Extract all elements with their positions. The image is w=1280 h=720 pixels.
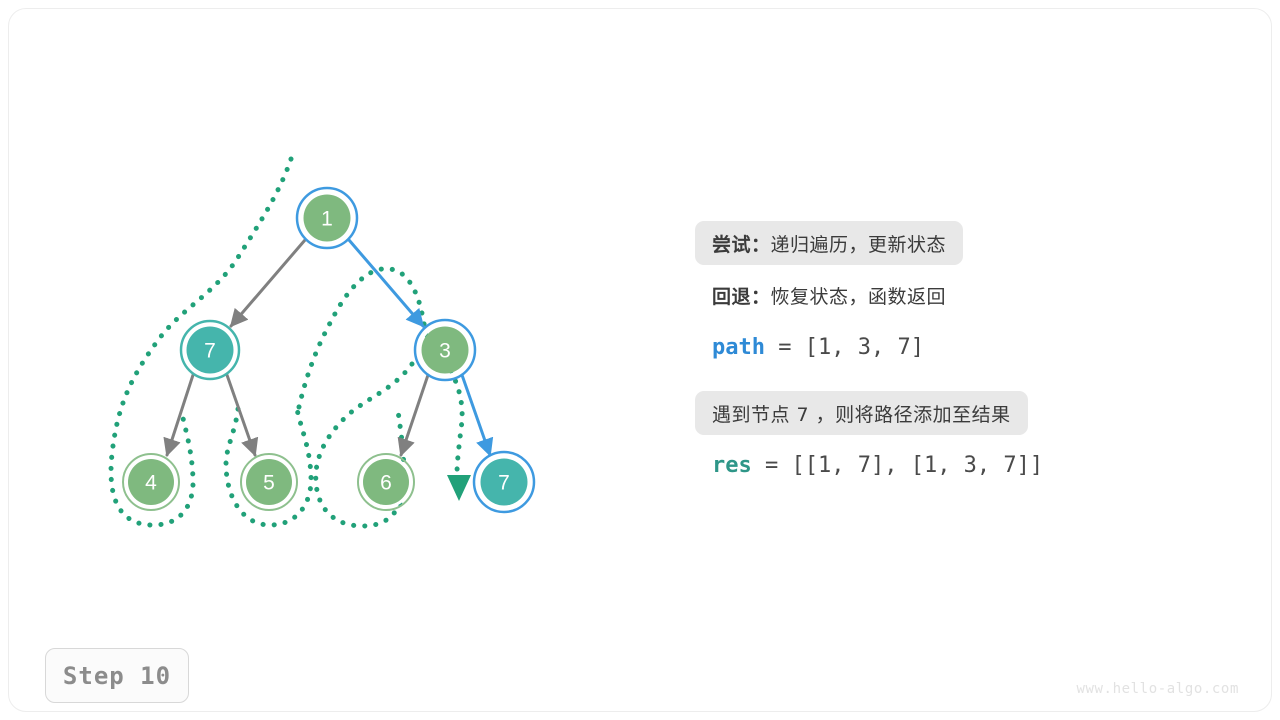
path-value: [1, 3, 7]: [805, 335, 924, 360]
tree-node-4[interactable]: 4: [123, 454, 179, 510]
tree-node-6-label: 6: [380, 472, 392, 495]
tree-node-7-right-label: 7: [498, 472, 510, 495]
try-text: 递归遍历，更新状态: [771, 230, 947, 257]
watermark: www.hello-algo.com: [1076, 681, 1239, 697]
info-panel: 尝试： 递归遍历，更新状态 回退： 恢复状态，函数返回 path = [1, 3…: [695, 221, 1215, 495]
panel-spacer: [695, 377, 1215, 391]
tree-node-7-right[interactable]: 7: [474, 452, 534, 512]
tree-node-5[interactable]: 5: [241, 454, 297, 510]
edge-1-7: [231, 240, 305, 326]
res-variable-name: res: [712, 453, 752, 478]
tree-node-7-left[interactable]: 7: [181, 321, 239, 379]
traversal-marker-icon: [447, 475, 471, 501]
tree-node-5-label: 5: [263, 472, 275, 495]
path-variable-name: path: [712, 335, 765, 360]
binary-tree-diagram: 1 7 3 4 5: [9, 9, 709, 629]
found-node-text: 遇到节点 7 ，则将路径添加至结果: [712, 400, 1011, 427]
backtrack-label: 回退：: [712, 282, 771, 309]
step-badge: Step 10: [45, 648, 189, 703]
tree-node-3[interactable]: 3: [415, 320, 475, 380]
backtrack-text: 恢复状态，函数返回: [771, 282, 947, 309]
tree-node-7-left-label: 7: [204, 340, 216, 363]
backtrack-row: 回退： 恢复状态，函数返回: [695, 273, 1215, 317]
tree-node-6[interactable]: 6: [358, 454, 414, 510]
res-value: [[1, 7], [1, 3, 7]]: [792, 453, 1044, 478]
try-chip: 尝试： 递归遍历，更新状态: [695, 221, 963, 265]
found-node-row: 遇到节点 7 ，则将路径添加至结果: [695, 391, 1215, 435]
res-row: res = [[1, 7], [1, 3, 7]]: [695, 443, 1215, 487]
try-label: 尝试：: [712, 230, 771, 257]
try-row: 尝试： 递归遍历，更新状态: [695, 221, 1215, 265]
step-badge-label: Step 10: [63, 662, 171, 690]
path-equals: =: [765, 335, 805, 360]
edge-3-6: [401, 375, 428, 455]
tree-node-4-label: 4: [145, 472, 157, 495]
tree-node-1[interactable]: 1: [297, 188, 357, 248]
tree-node-3-label: 3: [439, 340, 451, 363]
diagram-frame: 1 7 3 4 5: [8, 8, 1272, 712]
path-row: path = [1, 3, 7]: [695, 325, 1215, 369]
edge-3-7: [462, 375, 490, 455]
found-node-chip: 遇到节点 7 ，则将路径添加至结果: [695, 391, 1028, 435]
tree-node-1-label: 1: [321, 208, 333, 231]
res-equals: =: [752, 453, 792, 478]
